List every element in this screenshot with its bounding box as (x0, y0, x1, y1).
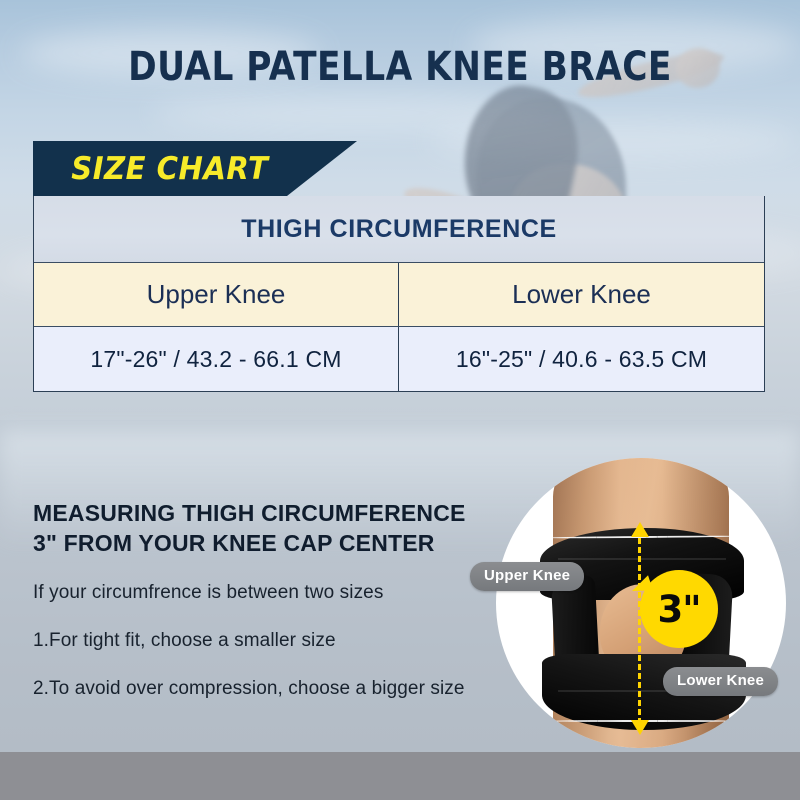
size-chart-banner-label: SIZE CHART (71, 151, 268, 187)
three-inch-badge: 3" (640, 570, 718, 648)
label-upper-knee-text: Upper Knee (484, 567, 570, 584)
size-table-value-row: 17"-26" / 43.2 - 66.1 CM 16"-25" / 40.6 … (34, 327, 764, 391)
footer-band (0, 752, 800, 800)
size-table-column-header-row: Upper Knee Lower Knee (34, 263, 764, 327)
column-header-upper-knee: Upper Knee (34, 263, 399, 326)
instructions-block: MEASURING THIGH CIRCUMFERENCE 3" FROM YO… (33, 498, 503, 700)
three-inch-badge-label: 3" (657, 588, 700, 631)
size-table-header-row: THIGH CIRCUMFERENCE (34, 196, 764, 263)
instructions-heading-line2: 3" FROM YOUR KNEE CAP CENTER (33, 528, 503, 558)
label-upper-knee: Upper Knee (470, 562, 584, 591)
value-cell-upper-knee: 17"-26" / 43.2 - 66.1 CM (34, 327, 399, 391)
column-header-upper-knee-label: Upper Knee (147, 279, 286, 310)
measure-arrow-up-icon (631, 522, 649, 537)
instructions-heading-line1: MEASURING THIGH CIRCUMFERENCE (33, 498, 503, 528)
measure-arrow-down-icon (631, 720, 649, 735)
product-size-chart-image: DUAL PATELLA KNEE BRACE SIZE CHART THIGH… (0, 0, 800, 800)
measure-arrow-line (638, 538, 641, 724)
label-lower-knee: Lower Knee (663, 667, 778, 696)
instructions-note: If your circumfrence is between two size… (33, 582, 503, 604)
instructions-tip-2: 2.To avoid over compression, choose a bi… (33, 678, 503, 700)
column-header-lower-knee: Lower Knee (399, 263, 764, 326)
column-header-lower-knee-label: Lower Knee (512, 279, 651, 310)
size-table-header-label: THIGH CIRCUMFERENCE (241, 215, 557, 244)
value-cell-lower-knee: 16"-25" / 40.6 - 63.5 CM (399, 327, 764, 391)
size-table: THIGH CIRCUMFERENCE Upper Knee Lower Kne… (33, 196, 765, 392)
page-title: DUAL PATELLA KNEE BRACE (56, 44, 744, 90)
value-upper-knee: 17"-26" / 43.2 - 66.1 CM (90, 346, 341, 373)
label-lower-knee-text: Lower Knee (677, 672, 764, 689)
value-lower-knee: 16"-25" / 40.6 - 63.5 CM (456, 346, 707, 373)
brace-seam (558, 558, 726, 560)
instructions-tip-1: 1.For tight fit, choose a smaller size (33, 630, 503, 652)
